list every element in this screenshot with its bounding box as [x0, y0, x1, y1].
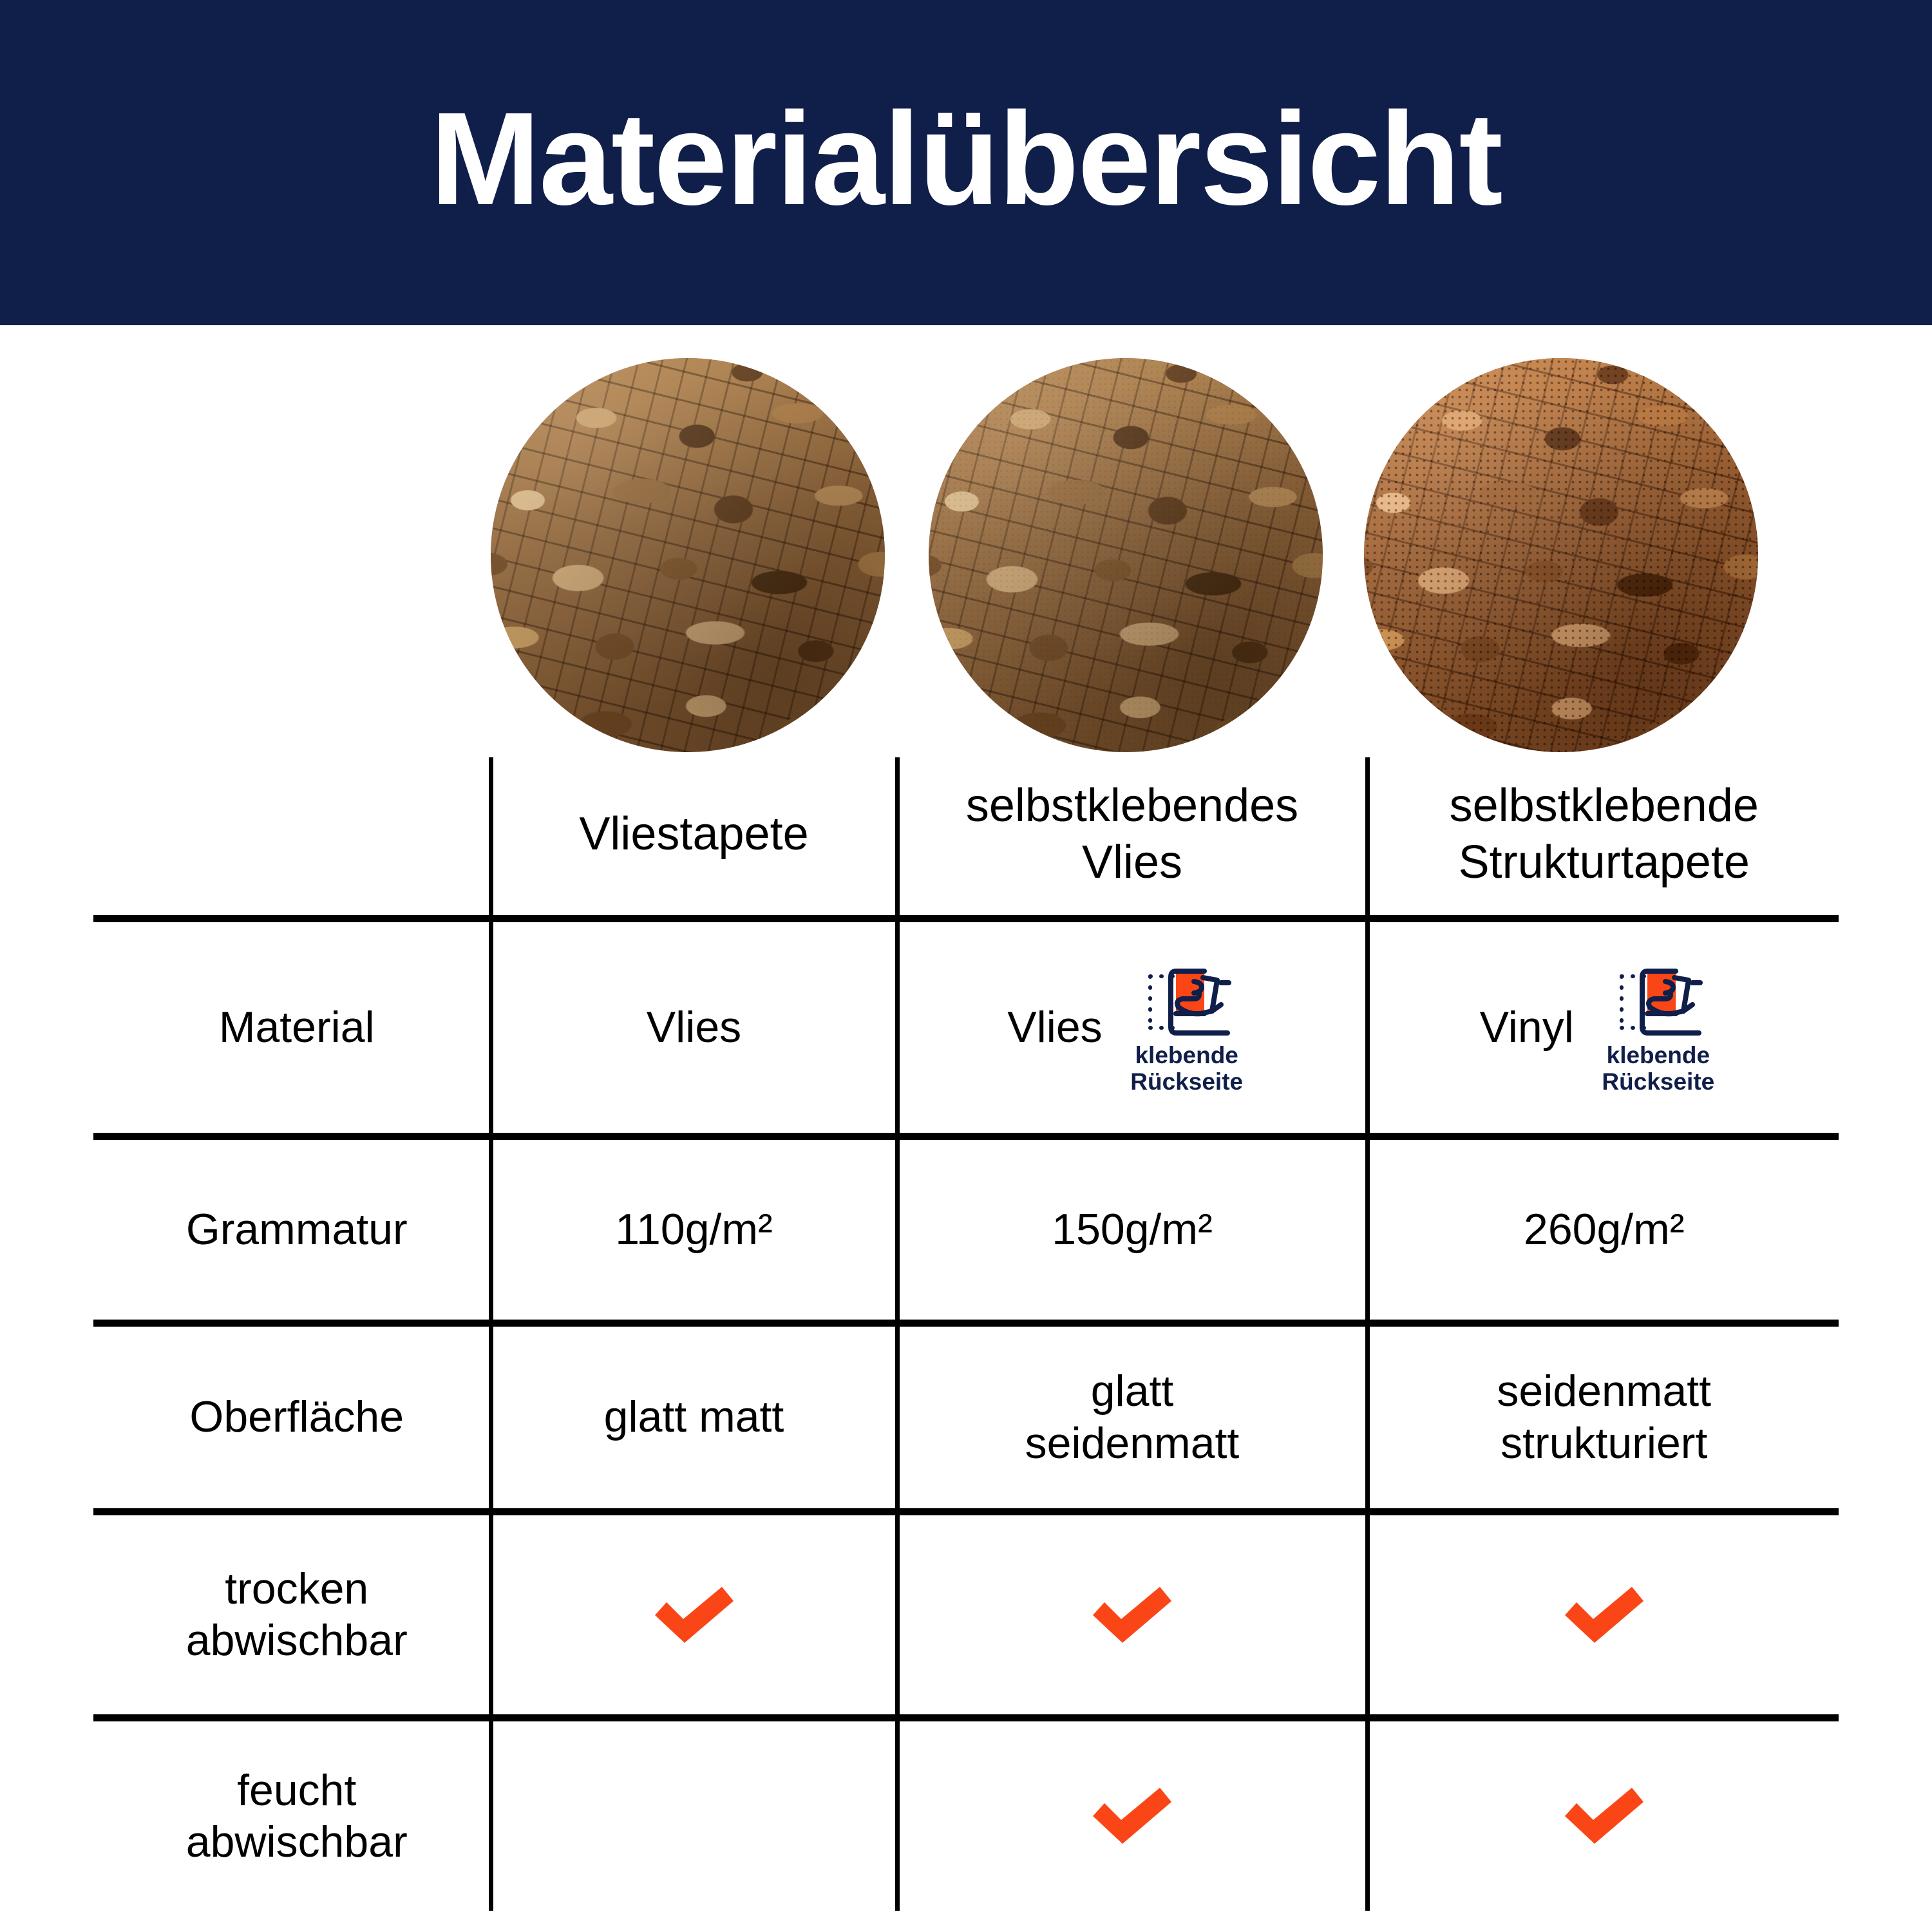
adhesive-backing-badge: klebende Rückseite [1588, 965, 1728, 1095]
adhesive-backing-icon [1139, 965, 1235, 1039]
row-label-grammatur: Grammatur [93, 1136, 491, 1323]
cell-material-vliestapete: Vlies [491, 918, 897, 1136]
check-icon [1556, 1779, 1653, 1853]
cell-value: Vinyl [1480, 1001, 1574, 1053]
table-row-feucht-abwischbar: feucht abwischbar [93, 1718, 1839, 1911]
header-label-line1: selbstklebendes [900, 778, 1365, 835]
table-row-material: Material Vlies Vlies [93, 918, 1839, 1136]
cell-value-line1: seidenmatt [1370, 1365, 1839, 1417]
cell-grammatur-vliestapete: 110g/m² [491, 1136, 897, 1323]
header-label-line2: Strukturtapete [1370, 835, 1839, 891]
adhesive-backing-badge: klebende Rückseite [1117, 965, 1257, 1095]
cell-oberflaeche-selbstklebende-strukturtapete: seidenmatt strukturiert [1367, 1323, 1839, 1511]
cell-grammatur-selbstklebendes-vlies: 150g/m² [897, 1136, 1367, 1323]
cell-oberflaeche-vliestapete: glatt matt [491, 1323, 897, 1511]
cell-trocken-vliestapete [491, 1511, 897, 1718]
header-cell-selbstklebende-strukturtapete: selbstklebende Strukturtapete [1367, 757, 1839, 918]
cell-value: Vlies [647, 1001, 741, 1053]
badge-line1: klebende [1135, 1042, 1238, 1068]
header-cell-blank [93, 757, 491, 918]
cell-feucht-selbstklebende-strukturtapete [1367, 1718, 1839, 1911]
row-label-feucht-abwischbar: feucht abwischbar [93, 1718, 491, 1911]
swatch-vliestapete [491, 358, 885, 752]
check-icon [646, 1578, 743, 1652]
cell-material-selbstklebendes-vlies: Vlies [897, 918, 1367, 1136]
no-check-placeholder [493, 1815, 895, 1816]
table-row-oberflaeche: Oberfläche glatt matt glatt seidenmatt s… [93, 1323, 1839, 1511]
cell-feucht-vliestapete [491, 1718, 897, 1911]
check-icon [1556, 1578, 1653, 1652]
adhesive-backing-label: klebende Rückseite [1130, 1042, 1243, 1095]
row-label-material: Material [93, 918, 491, 1136]
material-overview-page: Materialübersicht Vliestapete [0, 0, 1932, 1932]
table-row-grammatur: Grammatur 110g/m² 150g/m² 260g/m² [93, 1136, 1839, 1323]
cell-oberflaeche-selbstklebendes-vlies: glatt seidenmatt [897, 1323, 1367, 1511]
header-cell-selbstklebendes-vlies: selbstklebendes Vlies [897, 757, 1367, 918]
cell-trocken-selbstklebende-strukturtapete [1367, 1511, 1839, 1718]
stone-wall-texture [491, 358, 885, 752]
badge-line2: Rückseite [1602, 1068, 1714, 1095]
row-label-line1: trocken [105, 1563, 489, 1615]
cell-value-line1: glatt [900, 1365, 1365, 1417]
adhesive-backing-icon [1610, 965, 1707, 1039]
table-row-trocken-abwischbar: trocken abwischbar [93, 1511, 1839, 1718]
header-label-line2: Vlies [900, 835, 1365, 891]
cell-value-line1: glatt matt [493, 1391, 895, 1443]
adhesive-backing-label: klebende Rückseite [1602, 1042, 1714, 1095]
cell-feucht-selbstklebendes-vlies [897, 1718, 1367, 1911]
cell-value-line2: seidenmatt [900, 1417, 1365, 1469]
header-label-line1: Vliestapete [493, 806, 895, 863]
check-icon [1084, 1779, 1180, 1853]
swatch-selbstklebende-strukturtapete [1364, 358, 1758, 752]
cell-grammatur-selbstklebende-strukturtapete: 260g/m² [1367, 1136, 1839, 1323]
row-label-line2: abwischbar [105, 1615, 489, 1666]
check-icon [1084, 1578, 1180, 1652]
cell-value-line2: strukturiert [1370, 1417, 1839, 1469]
row-label-trocken-abwischbar: trocken abwischbar [93, 1511, 491, 1718]
row-label-line1: feucht [105, 1765, 489, 1816]
badge-line1: klebende [1607, 1042, 1710, 1068]
header-banner: Materialübersicht [0, 0, 1932, 325]
swatch-selbstklebendes-vlies [929, 358, 1323, 752]
material-comparison-table: Vliestapete selbstklebendes Vlies selbst… [93, 757, 1839, 1911]
table-header-row: Vliestapete selbstklebendes Vlies selbst… [93, 757, 1839, 918]
embossed-dot-texture-overlay [1364, 358, 1758, 752]
header-cell-vliestapete: Vliestapete [491, 757, 897, 918]
page-title: Materialübersicht [404, 93, 1527, 225]
row-label-oberflaeche: Oberfläche [93, 1323, 491, 1511]
cell-value: Vlies [1007, 1001, 1102, 1053]
row-label-line2: abwischbar [105, 1816, 489, 1868]
badge-line2: Rückseite [1130, 1068, 1243, 1095]
fine-grain-overlay [929, 358, 1323, 752]
swatch-gallery [491, 358, 1843, 757]
cell-material-selbstklebende-strukturtapete: Vinyl [1367, 918, 1839, 1136]
header-label-line1: selbstklebende [1370, 778, 1839, 835]
cell-trocken-selbstklebendes-vlies [897, 1511, 1367, 1718]
